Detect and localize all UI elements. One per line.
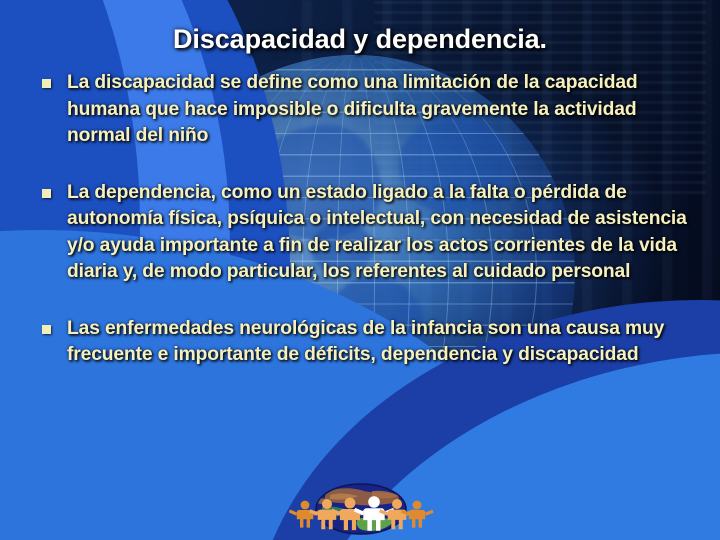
slide-title: Discapacidad y dependencia.	[0, 24, 720, 55]
square-bullet-icon	[42, 79, 51, 88]
square-bullet-icon	[42, 325, 51, 334]
slide-body: La discapacidad se define como una limit…	[42, 70, 690, 369]
bullet-text-3: Las enfermedades neurológicas de la infa…	[67, 316, 690, 369]
bullet-item-1: La discapacidad se define como una limit…	[42, 70, 690, 150]
bullet-spacer-1	[42, 150, 690, 180]
square-bullet-icon	[42, 189, 51, 198]
bullet-spacer-2	[42, 286, 690, 316]
bullet-item-3: Las enfermedades neurológicas de la infa…	[42, 316, 690, 369]
presentation-slide: Discapacidad y dependencia. La discapaci…	[0, 0, 720, 540]
globe-children-holding-hands-logo	[286, 481, 436, 537]
bullet-text-2: La dependencia, como un estado ligado a …	[67, 180, 690, 286]
bullet-text-1: La discapacidad se define como una limit…	[67, 70, 690, 150]
bullet-item-2: La dependencia, como un estado ligado a …	[42, 180, 690, 286]
